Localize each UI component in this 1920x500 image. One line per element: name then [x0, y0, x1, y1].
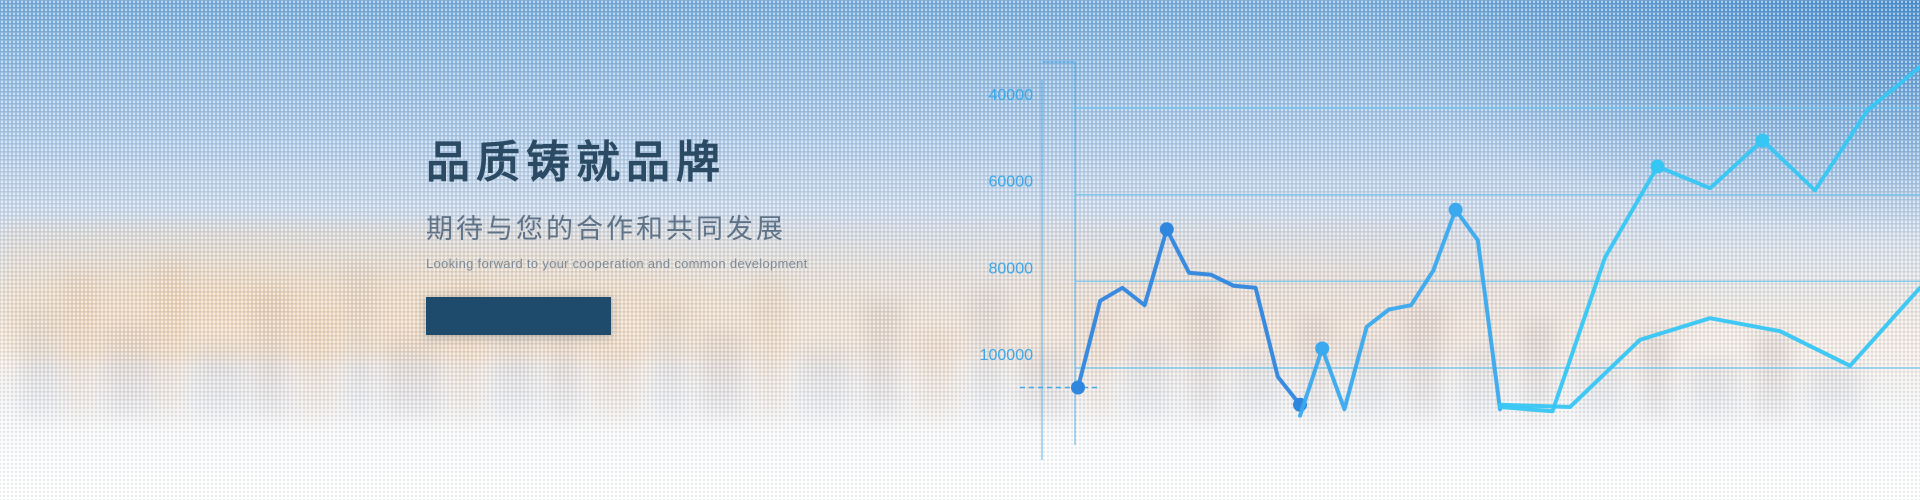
cta-button[interactable]: [426, 297, 611, 335]
data-point-marker: [1651, 160, 1665, 174]
y-axis-tick-label: 80000: [989, 260, 1034, 277]
data-point-marker: [1449, 203, 1463, 217]
y-axis: [1042, 62, 1075, 460]
data-point-marker: [1756, 134, 1770, 148]
series-2: [1300, 203, 1500, 416]
series-line: [1500, 288, 1920, 407]
y-axis-tick-label: 100000: [980, 347, 1033, 364]
hero-banner: 品质铸就品牌 期待与您的合作和共同发展 Looking forward to y…: [0, 0, 1920, 500]
line-chart: 400006000080000100000: [900, 0, 1920, 500]
series-line: [1078, 229, 1300, 404]
y-axis-tick-label: 60000: [989, 174, 1034, 191]
series-line: [1300, 210, 1500, 416]
data-point-marker: [1071, 381, 1085, 395]
y-axis-tick-label: 40000: [989, 87, 1034, 104]
chart-canvas: 400006000080000100000: [900, 0, 1920, 500]
series-4: [1500, 288, 1920, 407]
data-point-marker: [1315, 342, 1329, 356]
data-point-marker: [1160, 222, 1174, 236]
series-1: [1071, 222, 1307, 411]
